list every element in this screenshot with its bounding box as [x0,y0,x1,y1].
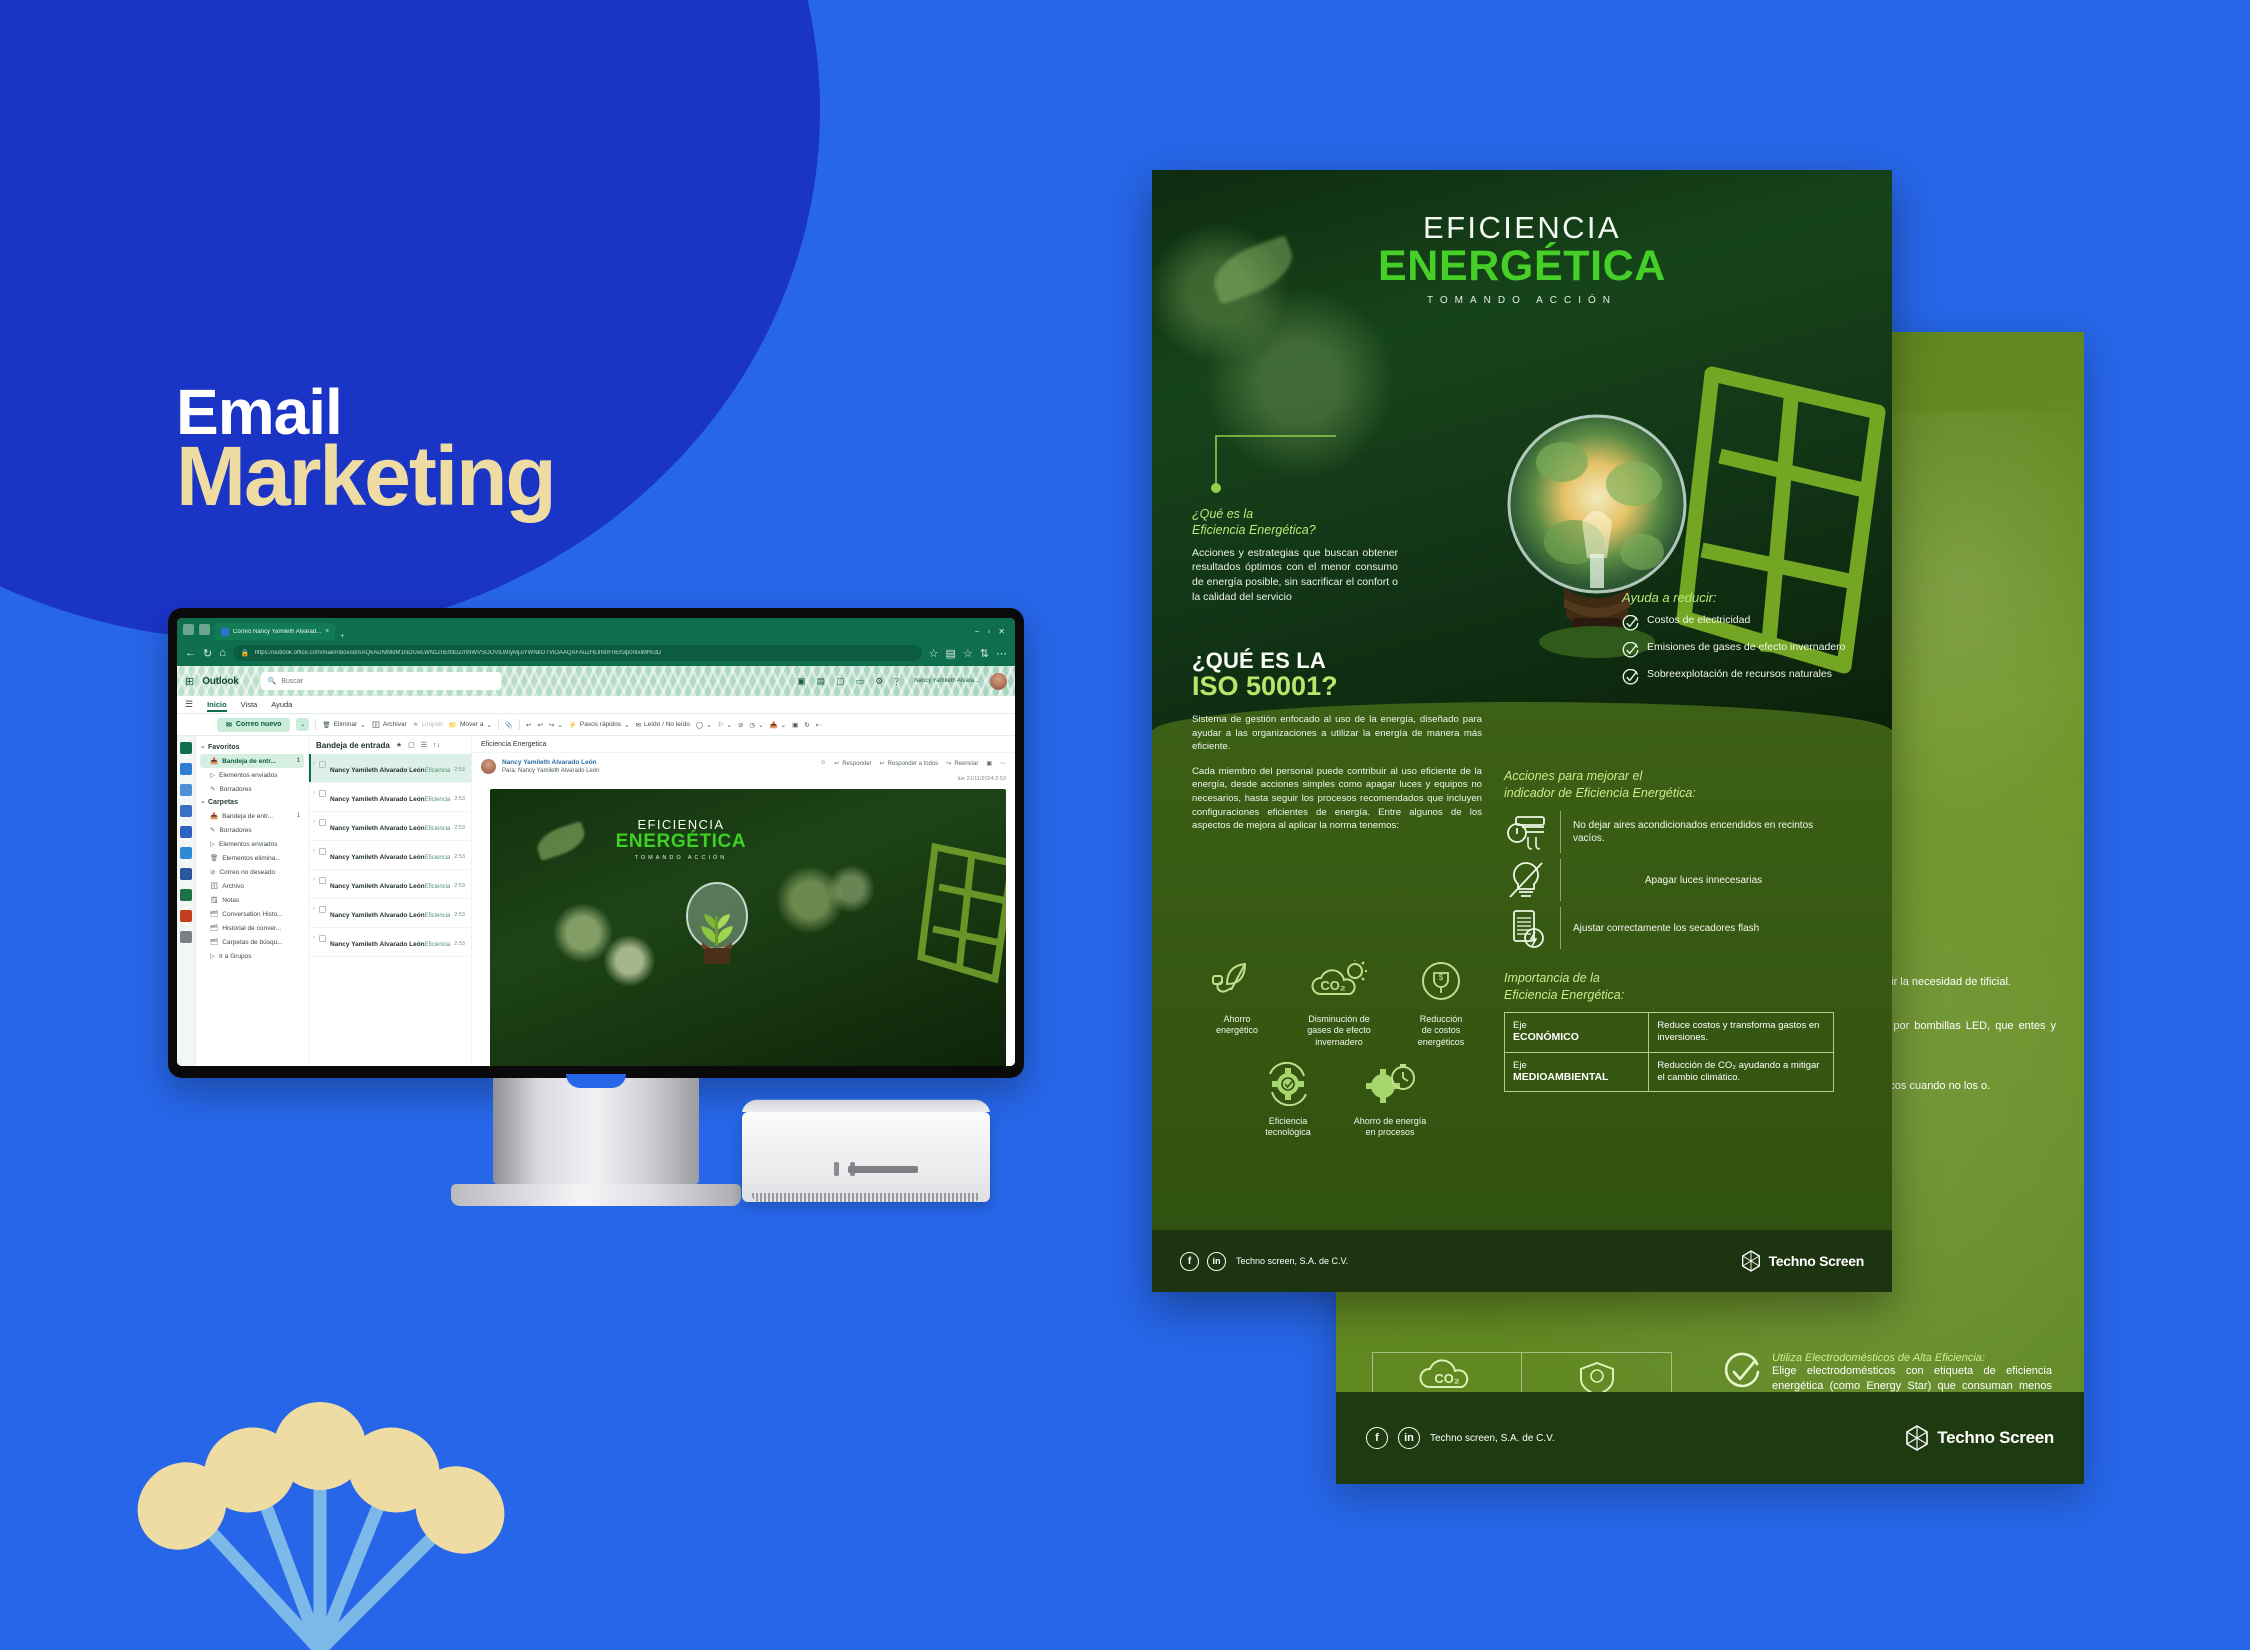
message-list-title: Bandeja de entrada [316,741,390,750]
iso-paragraph-2: Cada miembro del personal puede contribu… [1192,765,1482,833]
reading-actions-wrap: ☺ ↩Responder ↩Responder a todos ↪Reenvia… [820,759,1006,782]
reply-all-button[interactable]: ↩Responder a todos [880,760,939,767]
what-is-body: Acciones y estrategias que buscan obtene… [1192,546,1398,606]
chevron-down-icon: ⌄ [557,721,562,729]
browser-address-bar: ← ↻ ⌂ 🔒 https://outlook.office.com/mail/… [177,640,1015,666]
action-item: Ajustar correctamente los secadores flas… [1504,907,1834,949]
select-checkbox[interactable] [319,790,326,797]
tab-ayuda[interactable]: Ayuda [271,700,292,709]
lightbulb-plant-icon [676,872,758,984]
outlook-body: Favoritos📥Bandeja de entr...1▷Elementos … [177,736,1015,1066]
poster-front-title: EFICIENCIA ENERGÉTICA TOMANDO ACCIÓN [1152,210,1892,306]
importance-heading-line1: Importancia de la [1504,971,1600,985]
folder-label: Archivo [222,883,296,890]
poster-title-line1: EFICIENCIA [1152,210,1892,246]
back-icon[interactable]: ← [185,647,196,659]
rail-files-icon[interactable] [180,805,192,817]
reading-subject: Eficiencia Energetica [472,736,1015,753]
reload-icon[interactable]: ↻ [203,647,212,660]
folder-label: Notas [222,897,296,904]
table-row: Eje MEDIOAMBIENTAL Reducción de CO₂ ayud… [1505,1052,1833,1092]
list-item[interactable]: ›Nancy Yamileth Alvarado LeónEficiencia … [309,870,471,899]
reply-all-icon: ↩ [880,760,885,767]
monitor-screen: Correo Nancy Yamileth Alvarad... × + − ▫… [177,618,1015,1066]
select-checkbox[interactable] [319,848,326,855]
window-controls: − ▫ ✕ [971,627,1009,640]
expand-icon[interactable]: › [313,875,315,893]
collections-icon[interactable]: ▤ [946,647,956,660]
folder-label: Borradores [219,786,296,793]
iso-section: ¿QUÉ ES LA ISO 50001? Sistema de gestión… [1192,648,1482,833]
hero-title-line2: Marketing [176,437,555,517]
chevron-down-icon: ⌄ [360,721,365,729]
chat-icon[interactable]: ▭ [856,676,865,687]
usb-port-icon [834,1162,839,1176]
reply-label: Responder [842,761,871,767]
computer-top-surface [742,1100,990,1112]
helps-reduce-item: Costos de electricidad [1622,614,1852,632]
plug-cost-icon: $ [1417,960,1465,1004]
toolbar-reply-button[interactable]: ↩ [526,721,531,729]
message-sender: Nancy Yamileth Alvarado León [330,796,425,803]
toolbar-block-button[interactable]: ⊘ [738,721,743,729]
rail-onedrive-icon[interactable] [180,847,192,859]
recipient-line: Para: Nancy Yamileth Alvarado León [502,768,814,774]
expand-icon[interactable]: › [313,759,315,777]
select-checkbox[interactable] [319,819,326,826]
facebook-icon[interactable]: f [1180,1252,1199,1271]
sort-icon[interactable]: ↑↓ [433,742,440,749]
tab-inicio[interactable]: Inicio [207,700,227,709]
co2-cloud-icon: CO₂ [1417,1359,1477,1393]
shield-energy-icon [1574,1359,1620,1393]
sidebar-item-archivo[interactable]: 🗄Archivo [200,879,304,893]
chevron-down-icon: ⌄ [706,721,711,729]
expand-icon[interactable]: › [313,904,315,922]
toolbar-replyall-button[interactable]: ↩ [537,721,542,729]
calendar-icon[interactable]: ▤ [817,676,826,687]
message-list: Bandeja de entrada ★ ▢ ☰ ↑↓ ›Nancy Yamil… [308,736,472,1066]
importance-heading: Importancia de la Eficiencia Energética: [1504,970,1834,1003]
outlook-toolbar: ✉ Correo nuevo ⌄ 🗑Eliminar⌄ 🗄Archivar ⚑L… [177,714,1015,736]
block-icon: ⊘ [738,721,743,729]
rail-powerpoint-icon[interactable] [180,910,192,922]
toolbar-flag-button[interactable]: ⚐⌄ [718,721,732,729]
rail-apps-icon[interactable] [180,931,192,943]
helps-reduce-label: Emisiones de gases de efecto invernadero [1647,641,1845,654]
window-maximize-button[interactable]: ▫ [983,627,994,636]
toolbar-forward-button[interactable]: ↪⌄ [549,721,563,729]
banner-title: EFICIENCIA ENERGÉTICA TOMANDO ACCIÓN [490,817,872,861]
popout-icon[interactable]: ▣ [986,760,992,767]
folder-label: Ir a Grupos [219,953,296,960]
action-text: Apagar luces innecesarias [1573,874,1834,887]
computer-body [742,1112,990,1202]
tab-close-icon[interactable]: × [325,628,329,635]
folder-icon: ▷ [210,771,215,779]
folder-group-header[interactable]: Carpetas [200,796,304,809]
chevron-down-icon: ⌄ [726,721,731,729]
ribbon-hamburger-icon[interactable]: ☰ [185,699,193,710]
select-checkbox[interactable] [319,935,326,942]
toolbar-clean-label: Limpiar [422,721,443,728]
avatar[interactable] [990,673,1007,690]
folder-label: Elementos enviados [219,772,296,779]
folder-label: Correo no deseado [219,869,296,876]
table-cell-desc: Reducción de CO₂ ayudando a mitigar el c… [1649,1053,1833,1092]
message-time: 2:53 [454,788,465,806]
toolbar-divider [498,719,499,730]
star-icon[interactable]: ☆ [929,647,939,660]
rail-todo-icon[interactable] [180,826,192,838]
message-sender: Nancy Yamileth Alvarado León [330,883,425,890]
sidebar-item-bandeja-de-entr[interactable]: 📥Bandeja de entr...1 [200,754,304,768]
browser-profile-icon[interactable] [183,624,194,635]
toolbar-quicksteps-button[interactable]: ⚡Pasos rápidos⌄ [569,721,630,729]
folder-icon: 🗂 [210,910,218,918]
actions-section: Acciones para mejorar el indicador de Ef… [1504,768,1834,955]
sidebar-item-carpetas-de-b-squ[interactable]: 🗂Carpetas de búsqu... [200,935,304,949]
sidebar-item-elementos-enviados[interactable]: ▷Elementos enviados [200,768,304,782]
gear-icon[interactable]: ⚙ [875,676,883,687]
monitor-stand-neck [493,1078,699,1184]
folder-icon: ▷ [210,952,215,960]
sidebar-item-borradores[interactable]: ✎Borradores [200,782,304,796]
forward-label: Reenviar [954,761,978,767]
what-is-heading-line2: Eficiencia Energética? [1192,523,1316,537]
expand-icon[interactable]: › [313,846,315,864]
rail-excel-icon[interactable] [180,889,192,901]
folder-label: Carpetas de búsqu... [222,939,296,946]
actions-heading-line1: Acciones para mejorar el [1504,769,1642,783]
list-item[interactable]: ›Nancy Yamileth Alvarado LeónEficiencia … [309,841,471,870]
window-minimize-button[interactable]: − [971,627,984,636]
action-divider [1560,859,1561,901]
poster-back-check-title: Utiliza Electrodomésticos de Alta Eficie… [1772,1352,2052,1364]
select-checkbox[interactable] [319,761,326,768]
message-text: Nancy Yamileth Alvarado LeónEficiencia E… [330,933,450,951]
url-bar[interactable]: 🔒 https://outlook.office.com/mail/inbox/… [233,645,922,661]
benefit-label: Ahorroenergético [1189,1014,1285,1037]
axis-prefix: Eje [1513,1020,1640,1031]
browser-tab-title: Correo Nancy Yamileth Alvarad... [233,629,321,635]
techno-screen-logo-icon [1905,1425,1929,1451]
message-subject: Eficiencia Energetica [425,913,451,919]
toolbar-delete-label: Eliminar [334,721,357,728]
toolbar-readunread-label: Leído / No leído [644,721,690,728]
reply-button[interactable]: ↩Responder [834,760,871,767]
action-item: No dejar aires acondicionados encendidos… [1504,811,1834,853]
browser-settings-icon[interactable]: ⋯ [996,647,1007,660]
folder-label: Bandeja de entr... [222,813,293,820]
toolbar-divider [315,719,316,730]
sidebar-item-elementos-enviados[interactable]: ▷Elementos enviados [200,837,304,851]
broom-icon: ⚑ [413,721,419,729]
benefit-icons-row: Eficienciatecnológica Ahorro de energíae… [1184,1062,1494,1139]
leaf-plug-icon [1211,960,1263,1004]
reply-icon: ↩ [526,721,531,729]
sidebar-item-ir-a-grupos[interactable]: ▷Ir a Grupos [200,949,304,963]
message-text: Nancy Yamileth Alvarado LeónEficiencia E… [330,875,450,893]
linkedin-icon[interactable]: in [1398,1427,1420,1449]
sidebar-item-notas[interactable]: 🗒Notas [200,893,304,907]
benefit-icons-section: Ahorroenergético CO₂ Disminución degases… [1184,960,1494,1138]
forward-icon: ↪ [549,721,554,729]
outlook-brand: Outlook [202,676,238,687]
check-circle-icon [1622,615,1639,632]
new-mail-caret-icon[interactable]: ⌄ [296,718,309,731]
sync-icon[interactable]: ⇅ [980,647,989,660]
importance-heading-line2: Eficiencia Energética: [1504,988,1624,1002]
star-icon[interactable]: ★ [396,741,402,749]
url-text: https://outlook.office.com/mail/inbox/id… [255,650,662,656]
axis-description: Reducción de CO₂ ayudando a mitigar el c… [1657,1060,1825,1085]
meet-icon[interactable]: ▢ [836,676,845,687]
helps-reduce-item: Emisiones de gases de efecto invernadero [1622,641,1852,659]
computer-vent-grill [752,1193,980,1202]
svg-text:CO₂: CO₂ [1320,978,1346,993]
action-item: Apagar luces innecesarias [1504,859,1834,901]
folder-pane: Favoritos📥Bandeja de entr...1▷Elementos … [196,736,308,1066]
message-sender: Nancy Yamileth Alvarado León [330,912,425,919]
toolbar-categorize-button[interactable]: ◯⌄ [696,721,712,729]
reading-body: EFICIENCIA ENERGÉTICA TOMANDO ACCIÓN [472,786,1015,1066]
helps-reduce-label: Sobreexplotación de recursos naturales [1647,668,1832,681]
forward-icon: ↪ [946,760,951,767]
mail-read-icon: ✉ [636,721,641,729]
toolbar-readunread-button[interactable]: ✉Leído / No leído [636,721,690,729]
print-icon: ▣ [792,721,798,729]
poster-back-company-name: Techno screen, S.A. de C.V. [1430,1433,1555,1444]
tab-vista[interactable]: Vista [241,700,258,709]
select-checkbox[interactable] [319,877,326,884]
poster-front: EFICIENCIA ENERGÉTICA TOMANDO ACCIÓN ¿Qu… [1152,170,1892,1292]
techno-screen-logo-icon [1741,1250,1761,1272]
toolbar-attachment-button[interactable]: 📎 [505,721,513,729]
linkedin-icon[interactable]: in [1207,1252,1226,1271]
importance-section: Importancia de la Eficiencia Energética:… [1504,970,1834,1092]
chevron-down-icon: ⌄ [758,721,763,729]
poster-front-footer: f in Techno screen, S.A. de C.V. Techno … [1152,1230,1892,1292]
sidebar-item-correo-no-deseado[interactable]: ⊘Correo no deseado [200,865,304,879]
list-item[interactable]: ›Nancy Yamileth Alvarado LeónEficiencia … [309,812,471,841]
forward-button[interactable]: ↪Reenviar [946,760,978,767]
folder-icon: 🗂 [210,938,218,946]
poster-front-brand: Techno Screen [1741,1250,1864,1272]
list-item[interactable]: ›Nancy Yamileth Alvarado LeónEficiencia … [309,754,471,783]
lightning-icon: ⚡ [569,721,577,729]
browser-tabsearch-icon[interactable] [199,624,210,635]
folder-icon: ⊘ [210,868,215,876]
poster-title-line2: ENERGÉTICA [1152,242,1892,291]
inbox-rules-icon: 📥 [770,721,778,729]
gear-clock-icon [1361,1062,1419,1106]
reply-icon: ↩ [834,760,839,767]
check-circle-icon [1722,1352,1762,1392]
message-date: lue 21/11/2024 2:53 [820,776,1006,782]
benefit-item: Ahorroenergético [1189,960,1285,1048]
message-subject: Eficiencia Energetica [425,797,451,803]
toolbar-print-button[interactable]: ▣ [792,721,798,729]
new-mail-button[interactable]: ✉ Correo nuevo [217,718,290,732]
reaction-icon[interactable]: ☺ [820,760,826,766]
helps-reduce-heading: Ayuda a reducir: [1622,590,1852,605]
toolbar-rules-button[interactable]: 📥⌄ [770,721,787,729]
clock-icon: ◷ [749,721,755,729]
svg-text:CO₂: CO₂ [1434,1371,1460,1386]
benefit-item: Ahorro de energíaen procesos [1342,1062,1438,1139]
poster-back-footer: f in Techno screen, S.A. de C.V. Techno … [1336,1392,2084,1484]
table-cell-axis: Eje MEDIOAMBIENTAL [1505,1053,1649,1092]
tag-icon: ◯ [696,721,703,729]
toolbar-delete-button[interactable]: 🗑Eliminar⌄ [322,721,365,729]
reading-header: Nancy Yamileth Alvarado León Para: Nancy… [472,753,1015,786]
folder-label: Borradores [219,827,296,834]
facebook-icon[interactable]: f [1366,1427,1388,1449]
sidebar-item-historial-de-conver[interactable]: 🗂Historial de conver... [200,921,304,935]
axis-description: Reduce costos y transforma gastos en inv… [1657,1020,1825,1045]
toolbar-archive-button[interactable]: 🗄Archivar [372,721,407,729]
expand-icon[interactable]: › [313,933,315,951]
expand-icon[interactable]: › [313,817,315,835]
flash-dryer-icon [1504,907,1548,949]
actions-heading: Acciones para mejorar el indicador de Ef… [1504,768,1834,801]
list-item[interactable]: ›Nancy Yamileth Alvarado LeónEficiencia … [309,783,471,812]
filter-icon[interactable]: ☰ [421,741,427,749]
toolbar-clean-button: ⚑Limpiar [413,721,443,729]
folder-icon: 🗒 [210,896,218,904]
address-bar-actions: ☆ ▤ ☆ ⇅ ⋯ [929,647,1007,660]
favorites-icon[interactable]: ☆ [963,647,973,660]
folder-icon: 📥 [210,757,218,765]
folder-group-header[interactable]: Favoritos [200,741,304,754]
message-text: Nancy Yamileth Alvarado LeónEficiencia E… [330,817,450,835]
benefit-item: CO₂ Disminución degases de efectoinverna… [1291,960,1387,1048]
toolbar-moveto-button[interactable]: 📁Mover a⌄ [449,721,492,729]
benefit-icons-row: Ahorroenergético CO₂ Disminución degases… [1184,960,1494,1048]
list-item[interactable]: ›Nancy Yamileth Alvarado LeónEficiencia … [309,928,471,957]
folder-label: Bandeja de entr... [222,758,293,765]
new-tab-icon[interactable]: + [340,633,344,640]
table-cell-desc: Reduce costos y transforma gastos en inv… [1649,1013,1833,1052]
sidebar-item-bandeja-de-entr[interactable]: 📥Bandeja de entr...1 [200,809,304,823]
expand-icon: ⇠ [816,721,821,729]
reading-actions: ☺ ↩Responder ↩Responder a todos ↪Reenvia… [820,759,1006,767]
banner-title-line1: EFICIENCIA [490,817,872,832]
toolbar-archive-label: Archivar [383,721,407,728]
rail-mail-icon[interactable] [180,742,192,754]
lock-icon: 🔒 [241,649,250,657]
toolbar-undo-button[interactable]: ↻ [804,721,809,729]
rail-people-icon[interactable] [180,784,192,796]
paperclip-icon: 📎 [505,721,513,729]
folder-label: Conversation Histo... [222,911,296,918]
message-sender: Nancy Yamileth Alvarado León [330,825,425,832]
trash-icon: 🗑 [322,721,330,729]
benefit-label: Disminución degases de efectoinvernadero [1291,1014,1387,1048]
sender-name: Nancy Yamileth Alvarado León [502,759,814,766]
more-options-icon[interactable]: ⋯ [1000,760,1006,767]
email-banner-image: EFICIENCIA ENERGÉTICA TOMANDO ACCIÓN [490,789,1006,1066]
helps-reduce-label: Costos de electricidad [1647,614,1750,627]
list-item[interactable]: ›Nancy Yamileth Alvarado LeónEficiencia … [309,899,471,928]
unread-icon[interactable]: ▢ [408,741,415,749]
toolbar-snooze-button[interactable]: ◷⌄ [749,721,763,729]
message-subject: Eficiencia Energetica [425,942,451,948]
poster-front-company-name: Techno screen, S.A. de C.V. [1236,1256,1348,1266]
chevron-down-icon: ⌄ [781,721,786,729]
message-text: Nancy Yamileth Alvarado LeónEficiencia E… [330,759,450,777]
iso-heading-line2: ISO 50001? [1192,671,1482,702]
action-text: No dejar aires acondicionados encendidos… [1573,819,1834,845]
sender-avatar [481,759,496,774]
help-icon[interactable]: ？ [894,675,903,688]
action-text: Ajustar correctamente los secadores flas… [1573,922,1834,935]
sidebar-item-elementos-elimina[interactable]: 🗑Elementos elimina... [200,851,304,865]
iso-paragraph-1: Sistema de gestión enfocado al uso de la… [1192,713,1482,754]
reply-all-icon: ↩ [537,721,542,729]
message-subject: Eficiencia Energetica [425,855,451,861]
app-rail [177,736,196,1066]
browser-tab[interactable]: Correo Nancy Yamileth Alvarad... × [215,623,335,640]
rail-word-icon[interactable] [180,868,192,880]
axis-prefix: Eje [1513,1060,1640,1071]
hero-title: Email Marketing [176,382,555,517]
helps-reduce-section: Ayuda a reducir: Costos de electricidad … [1622,590,1852,695]
poster-back-brand-name: Techno Screen [1937,1428,2054,1448]
select-checkbox[interactable] [319,906,326,913]
message-time: 2:53 [454,817,465,835]
folder-icon: ✎ [210,785,215,793]
banner-title-line2: ENERGÉTICA [490,831,872,853]
chevron-down-icon: ⌄ [486,721,491,729]
chevron-down-icon: ⌄ [624,721,629,729]
monitor-stand-foot [451,1184,741,1206]
archive-icon: 🗄 [372,721,380,729]
search-input[interactable]: 🔍 Buscar [261,672,501,690]
toolbar-expand-button[interactable]: ⇠ [816,721,821,729]
expand-icon[interactable]: › [313,788,315,806]
user-name: Nancy Yamileth Alvara... [914,678,979,684]
envelope-icon: ✉ [226,721,232,729]
card-slot [848,1166,918,1173]
folder-icon: 🗂 [210,924,218,932]
banner-title-line3: TOMANDO ACCIÓN [490,855,872,861]
folder-count: 1 [297,758,300,764]
window-close-button[interactable]: ✕ [994,627,1009,636]
sidebar-item-borradores[interactable]: ✎Borradores [200,823,304,837]
teams-icon[interactable]: ▣ [797,676,806,687]
folder-icon: 📥 [210,812,218,820]
browser-tab-bar: Correo Nancy Yamileth Alvarad... × + − ▫… [177,618,1015,640]
helps-reduce-item: Sobreexplotación de recursos naturales [1622,668,1852,686]
action-divider [1560,907,1561,949]
message-rows: ›Nancy Yamileth Alvarado LeónEficiencia … [309,754,471,957]
rail-calendar-icon[interactable] [180,763,192,775]
reading-pane: Eficiencia Energetica Nancy Yamileth Alv… [472,736,1015,1066]
fan-decoration [100,1370,540,1650]
message-time: 2:53 [454,904,465,922]
search-icon: 🔍 [268,677,277,685]
folder-label: Elementos elimina... [222,855,296,862]
app-launcher-icon[interactable]: ⊞ [185,675,194,688]
message-subject: Eficiencia Energetica [425,884,451,890]
table-row: Eje ECONÓMICO Reduce costos y transforma… [1505,1013,1833,1052]
home-icon[interactable]: ⌂ [219,647,226,659]
sidebar-item-conversation-histo[interactable]: 🗂Conversation Histo... [200,907,304,921]
message-sender: Nancy Yamileth Alvarado León [330,941,425,948]
poster-front-brand-name: Techno Screen [1769,1253,1864,1269]
